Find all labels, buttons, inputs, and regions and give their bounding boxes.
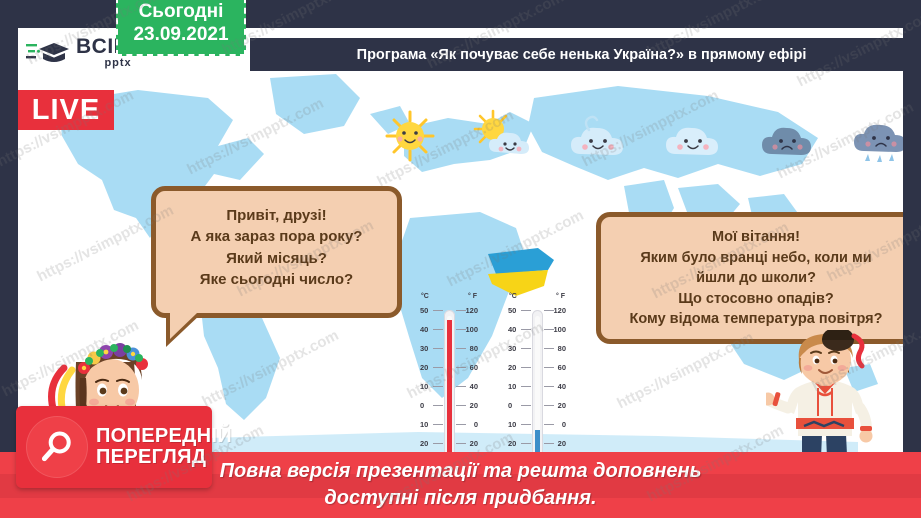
cloud-rain-icon bbox=[844, 108, 903, 164]
sun-icon bbox=[373, 108, 447, 164]
bottom-banner-line-1: Повна версія презентації та решта доповн… bbox=[220, 458, 702, 485]
tick-f-40: 40 bbox=[470, 382, 478, 391]
today-label: Сьогодні bbox=[139, 0, 224, 23]
tick-f-60: 60 bbox=[470, 363, 478, 372]
graduation-cap-icon bbox=[26, 40, 70, 66]
bubble-left-tail-inner bbox=[170, 313, 197, 339]
tick2-c-50: 50 bbox=[508, 306, 516, 315]
tick-c-30: 30 bbox=[420, 344, 428, 353]
tick-c-40: 40 bbox=[420, 325, 428, 334]
bubble-right-line-3: йшли до школи? bbox=[609, 268, 903, 289]
weather-icon-row bbox=[373, 106, 903, 164]
tick2-c-40: 40 bbox=[508, 325, 516, 334]
preview-badge[interactable]: ПОПЕРЕДНІЙ ПЕРЕГЛЯД bbox=[16, 406, 212, 488]
thermometer-blue-ticks: 50 40 30 20 10 0 10 20 30 120 100 80 60 … bbox=[506, 302, 568, 470]
tick-f-80: 80 bbox=[470, 344, 478, 353]
tick-c-20: 20 bbox=[420, 363, 428, 372]
preview-line-2: ПЕРЕГЛЯД bbox=[96, 447, 232, 468]
bottom-banner-line-2: доступні після придбання. bbox=[324, 485, 596, 512]
slide-frame: BCIM pptx LIVE bbox=[0, 0, 921, 518]
thermometer-red: °C ° F 50 40 30 20 10 0 10 20 30 bbox=[418, 293, 480, 478]
cloud-light-icon-2 bbox=[656, 108, 730, 164]
tick-c-m20: 20 bbox=[420, 439, 428, 448]
cloud-light-icon bbox=[561, 108, 635, 164]
tick2-c-0: 0 bbox=[508, 401, 512, 410]
tick2-c-30: 30 bbox=[508, 344, 516, 353]
thermometer-blue: °C ° F 50 40 30 20 10 0 10 20 30 bbox=[506, 293, 568, 478]
tick-f-m20: 20 bbox=[470, 439, 478, 448]
today-date: 23.09.2021 bbox=[133, 23, 228, 47]
bubble-right-line-4: Що стосовно опадів? bbox=[609, 289, 903, 310]
tick2-f-20: 20 bbox=[558, 401, 566, 410]
thermometer-red-celsius-unit: °C bbox=[421, 293, 429, 300]
thermometer-blue-celsius-unit: °C bbox=[509, 293, 517, 300]
tick-c-0: 0 bbox=[420, 401, 424, 410]
preview-line-1: ПОПЕРЕДНІЙ bbox=[96, 426, 232, 447]
today-badge: Сьогодні 23.09.2021 bbox=[116, 0, 246, 56]
logo-subtitle: pptx bbox=[76, 58, 132, 69]
tick2-c-m20: 20 bbox=[508, 439, 516, 448]
speech-bubble-left: Привіт, друзі! А яка зараз пора року? Як… bbox=[151, 186, 402, 318]
tick-f-120: 120 bbox=[465, 306, 478, 315]
thermometer-blue-fahrenheit-unit: ° F bbox=[556, 293, 565, 300]
tick2-c-20: 20 bbox=[508, 363, 516, 372]
cloud-dark-icon bbox=[750, 108, 824, 164]
tick2-f-40: 40 bbox=[558, 382, 566, 391]
tick2-f-m20: 20 bbox=[558, 439, 566, 448]
thermometer-red-ticks: 50 40 30 20 10 0 10 20 30 120 100 80 60 … bbox=[418, 302, 480, 470]
bubble-left-line-1: Привіт, друзі! bbox=[166, 205, 387, 226]
tick-f-0: 0 bbox=[474, 420, 478, 429]
bubble-left-line-2: А яка зараз пора року? bbox=[166, 226, 387, 247]
thermometer-red-fahrenheit-unit: ° F bbox=[468, 293, 477, 300]
header-title: Програма «Як почуває себе ненька Україна… bbox=[357, 47, 807, 63]
tick2-f-60: 60 bbox=[558, 363, 566, 372]
tick-c-50: 50 bbox=[420, 306, 428, 315]
header-banner: Програма «Як почуває себе ненька Україна… bbox=[250, 38, 913, 71]
bubble-right-line-1: Мої вітання! bbox=[609, 227, 903, 248]
tick2-c-m10: 10 bbox=[508, 420, 516, 429]
bubble-left-line-3: Який місяць? bbox=[166, 248, 387, 269]
tick-c-m10: 10 bbox=[420, 420, 428, 429]
tick2-f-100: 100 bbox=[553, 325, 566, 334]
magnifier-icon bbox=[26, 416, 88, 478]
tick-f-20: 20 bbox=[470, 401, 478, 410]
live-label: LIVE bbox=[32, 94, 100, 127]
tick2-f-0: 0 bbox=[562, 420, 566, 429]
tick2-f-80: 80 bbox=[558, 344, 566, 353]
tick2-c-10: 10 bbox=[508, 382, 516, 391]
tick-f-100: 100 bbox=[465, 325, 478, 334]
bubble-right-line-2: Яким було вранці небо, коли ми bbox=[609, 248, 903, 269]
tick-c-10: 10 bbox=[420, 382, 428, 391]
bubble-right-line-5: Кому відома температура повітря? bbox=[609, 309, 903, 330]
live-badge: LIVE bbox=[18, 90, 114, 130]
bubble-left-line-4: Яке сьогодні число? bbox=[166, 269, 387, 290]
sun-cloud-icon bbox=[467, 108, 541, 164]
tick2-f-120: 120 bbox=[553, 306, 566, 315]
speech-bubble-right: Мої вітання! Яким було вранці небо, коли… bbox=[596, 212, 903, 344]
